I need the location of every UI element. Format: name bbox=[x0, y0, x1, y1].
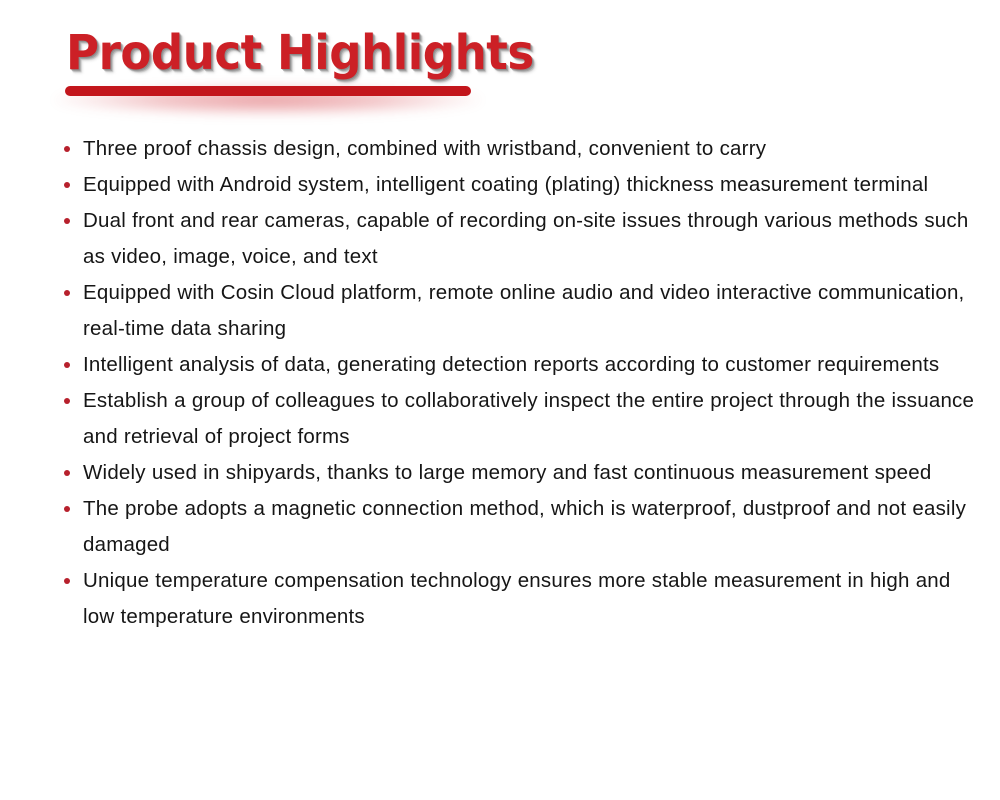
list-item: Three proof chassis design, combined wit… bbox=[60, 131, 976, 167]
title-underline-bar bbox=[65, 86, 471, 96]
bullet-dot-icon bbox=[64, 218, 70, 224]
bullet-dot-icon bbox=[64, 470, 70, 476]
title-block: Product Highlights bbox=[54, 22, 534, 112]
product-highlights-list: Three proof chassis design, combined wit… bbox=[60, 131, 976, 635]
list-item: Unique temperature compensation technolo… bbox=[60, 563, 976, 635]
list-item-text: Unique temperature compensation technolo… bbox=[83, 563, 976, 635]
bullet-dot-icon bbox=[64, 362, 70, 368]
list-item: The probe adopts a magnetic connection m… bbox=[60, 491, 976, 563]
list-item-text: Establish a group of colleagues to colla… bbox=[83, 383, 976, 455]
bullet-dot-icon bbox=[64, 506, 70, 512]
list-item: Intelligent analysis of data, generating… bbox=[60, 347, 976, 383]
bullet-dot-icon bbox=[64, 182, 70, 188]
list-item-text: Three proof chassis design, combined wit… bbox=[83, 131, 976, 167]
list-item-text: Intelligent analysis of data, generating… bbox=[83, 347, 976, 383]
page-title: Product Highlights bbox=[66, 22, 534, 84]
list-item-text: Equipped with Cosin Cloud platform, remo… bbox=[83, 275, 976, 347]
list-item: Dual front and rear cameras, capable of … bbox=[60, 203, 976, 275]
list-item-text: The probe adopts a magnetic connection m… bbox=[83, 491, 976, 563]
list-item: Widely used in shipyards, thanks to larg… bbox=[60, 455, 976, 491]
list-item-text: Widely used in shipyards, thanks to larg… bbox=[83, 455, 976, 491]
list-item: Establish a group of colleagues to colla… bbox=[60, 383, 976, 455]
slide-canvas: Product Highlights Three proof chassis d… bbox=[0, 0, 1000, 800]
list-item-text: Dual front and rear cameras, capable of … bbox=[83, 203, 976, 275]
list-item: Equipped with Android system, intelligen… bbox=[60, 167, 976, 203]
bullet-dot-icon bbox=[64, 146, 70, 152]
bullet-dot-icon bbox=[64, 398, 70, 404]
bullet-dot-icon bbox=[64, 578, 70, 584]
list-item-text: Equipped with Android system, intelligen… bbox=[83, 167, 976, 203]
title-underline-glow bbox=[54, 78, 482, 122]
list-item: Equipped with Cosin Cloud platform, remo… bbox=[60, 275, 976, 347]
bullet-dot-icon bbox=[64, 290, 70, 296]
